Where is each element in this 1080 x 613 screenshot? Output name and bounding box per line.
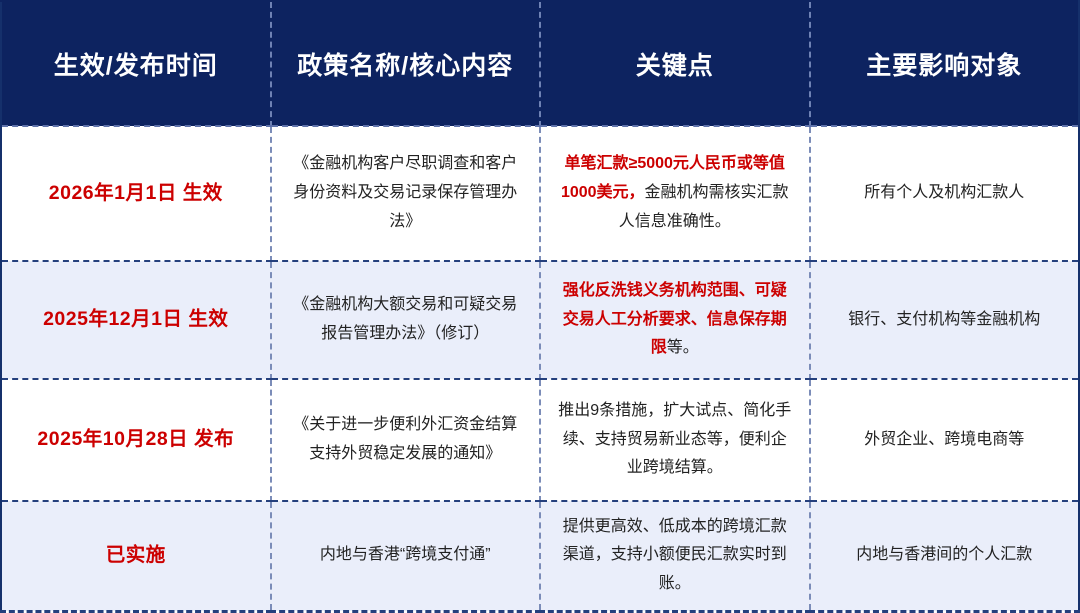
column-header-target: 主要影响对象 [810, 1, 1080, 126]
key-point-rest: 推出9条措施，扩大试点、简化手续、支持贸易新业态等，便利企业跨境结算。 [558, 402, 791, 477]
key-point-rest: 等。 [667, 339, 699, 356]
cell-effective-date: 2026年1月1日 生效 [1, 126, 271, 261]
cell-effective-date: 2025年12月1日 生效 [1, 261, 271, 379]
cell-key-point: 提供更高效、低成本的跨境汇款渠道，支持小额便民汇款实时到账。 [540, 501, 810, 611]
key-point-rest: 金融机构需核实汇款人信息准确性。 [619, 184, 789, 230]
table-row: 2026年1月1日 生效 《金融机构客户尽职调查和客户身份资料及交易记录保存管理… [1, 126, 1079, 261]
cell-affected-target: 外贸企业、跨境电商等 [810, 379, 1080, 501]
cell-key-point: 推出9条措施，扩大试点、简化手续、支持贸易新业态等，便利企业跨境结算。 [540, 379, 810, 501]
cell-policy-name: 内地与香港“跨境支付通” [271, 501, 541, 611]
table-row: 2025年12月1日 生效 《金融机构大额交易和可疑交易报告管理办法》（修订） … [1, 261, 1079, 379]
cell-affected-target: 内地与香港间的个人汇款 [810, 501, 1080, 611]
cell-key-point: 强化反洗钱义务机构范围、可疑交易人工分析要求、信息保存期限等。 [540, 261, 810, 379]
column-header-policy: 政策名称/核心内容 [271, 1, 541, 126]
cell-policy-name: 《关于进一步便利外汇资金结算 支持外贸稳定发展的通知》 [271, 379, 541, 501]
cell-key-point: 单笔汇款≥5000元人民币或等值1000美元，金融机构需核实汇款人信息准确性。 [540, 126, 810, 261]
table-header: 生效/发布时间 政策名称/核心内容 关键点 主要影响对象 [1, 1, 1079, 126]
cell-effective-date: 已实施 [1, 501, 271, 611]
header-row: 生效/发布时间 政策名称/核心内容 关键点 主要影响对象 [1, 1, 1079, 126]
table-row: 已实施 内地与香港“跨境支付通” 提供更高效、低成本的跨境汇款渠道，支持小额便民… [1, 501, 1079, 611]
cell-affected-target: 所有个人及机构汇款人 [810, 126, 1080, 261]
table-row: 2025年10月28日 发布 《关于进一步便利外汇资金结算 支持外贸稳定发展的通… [1, 379, 1079, 501]
cell-policy-name: 《金融机构大额交易和可疑交易报告管理办法》（修订） [271, 261, 541, 379]
cell-affected-target: 银行、支付机构等金融机构 [810, 261, 1080, 379]
cell-policy-name: 《金融机构客户尽职调查和客户身份资料及交易记录保存管理办法》 [271, 126, 541, 261]
column-header-date: 生效/发布时间 [1, 1, 271, 126]
policy-summary-table: 生效/发布时间 政策名称/核心内容 关键点 主要影响对象 2026年1月1日 生… [0, 0, 1080, 613]
table-body: 2026年1月1日 生效 《金融机构客户尽职调查和客户身份资料及交易记录保存管理… [1, 126, 1079, 611]
cell-effective-date: 2025年10月28日 发布 [1, 379, 271, 501]
column-header-keypoint: 关键点 [540, 1, 810, 126]
key-point-rest: 提供更高效、低成本的跨境汇款渠道，支持小额便民汇款实时到账。 [563, 518, 787, 593]
